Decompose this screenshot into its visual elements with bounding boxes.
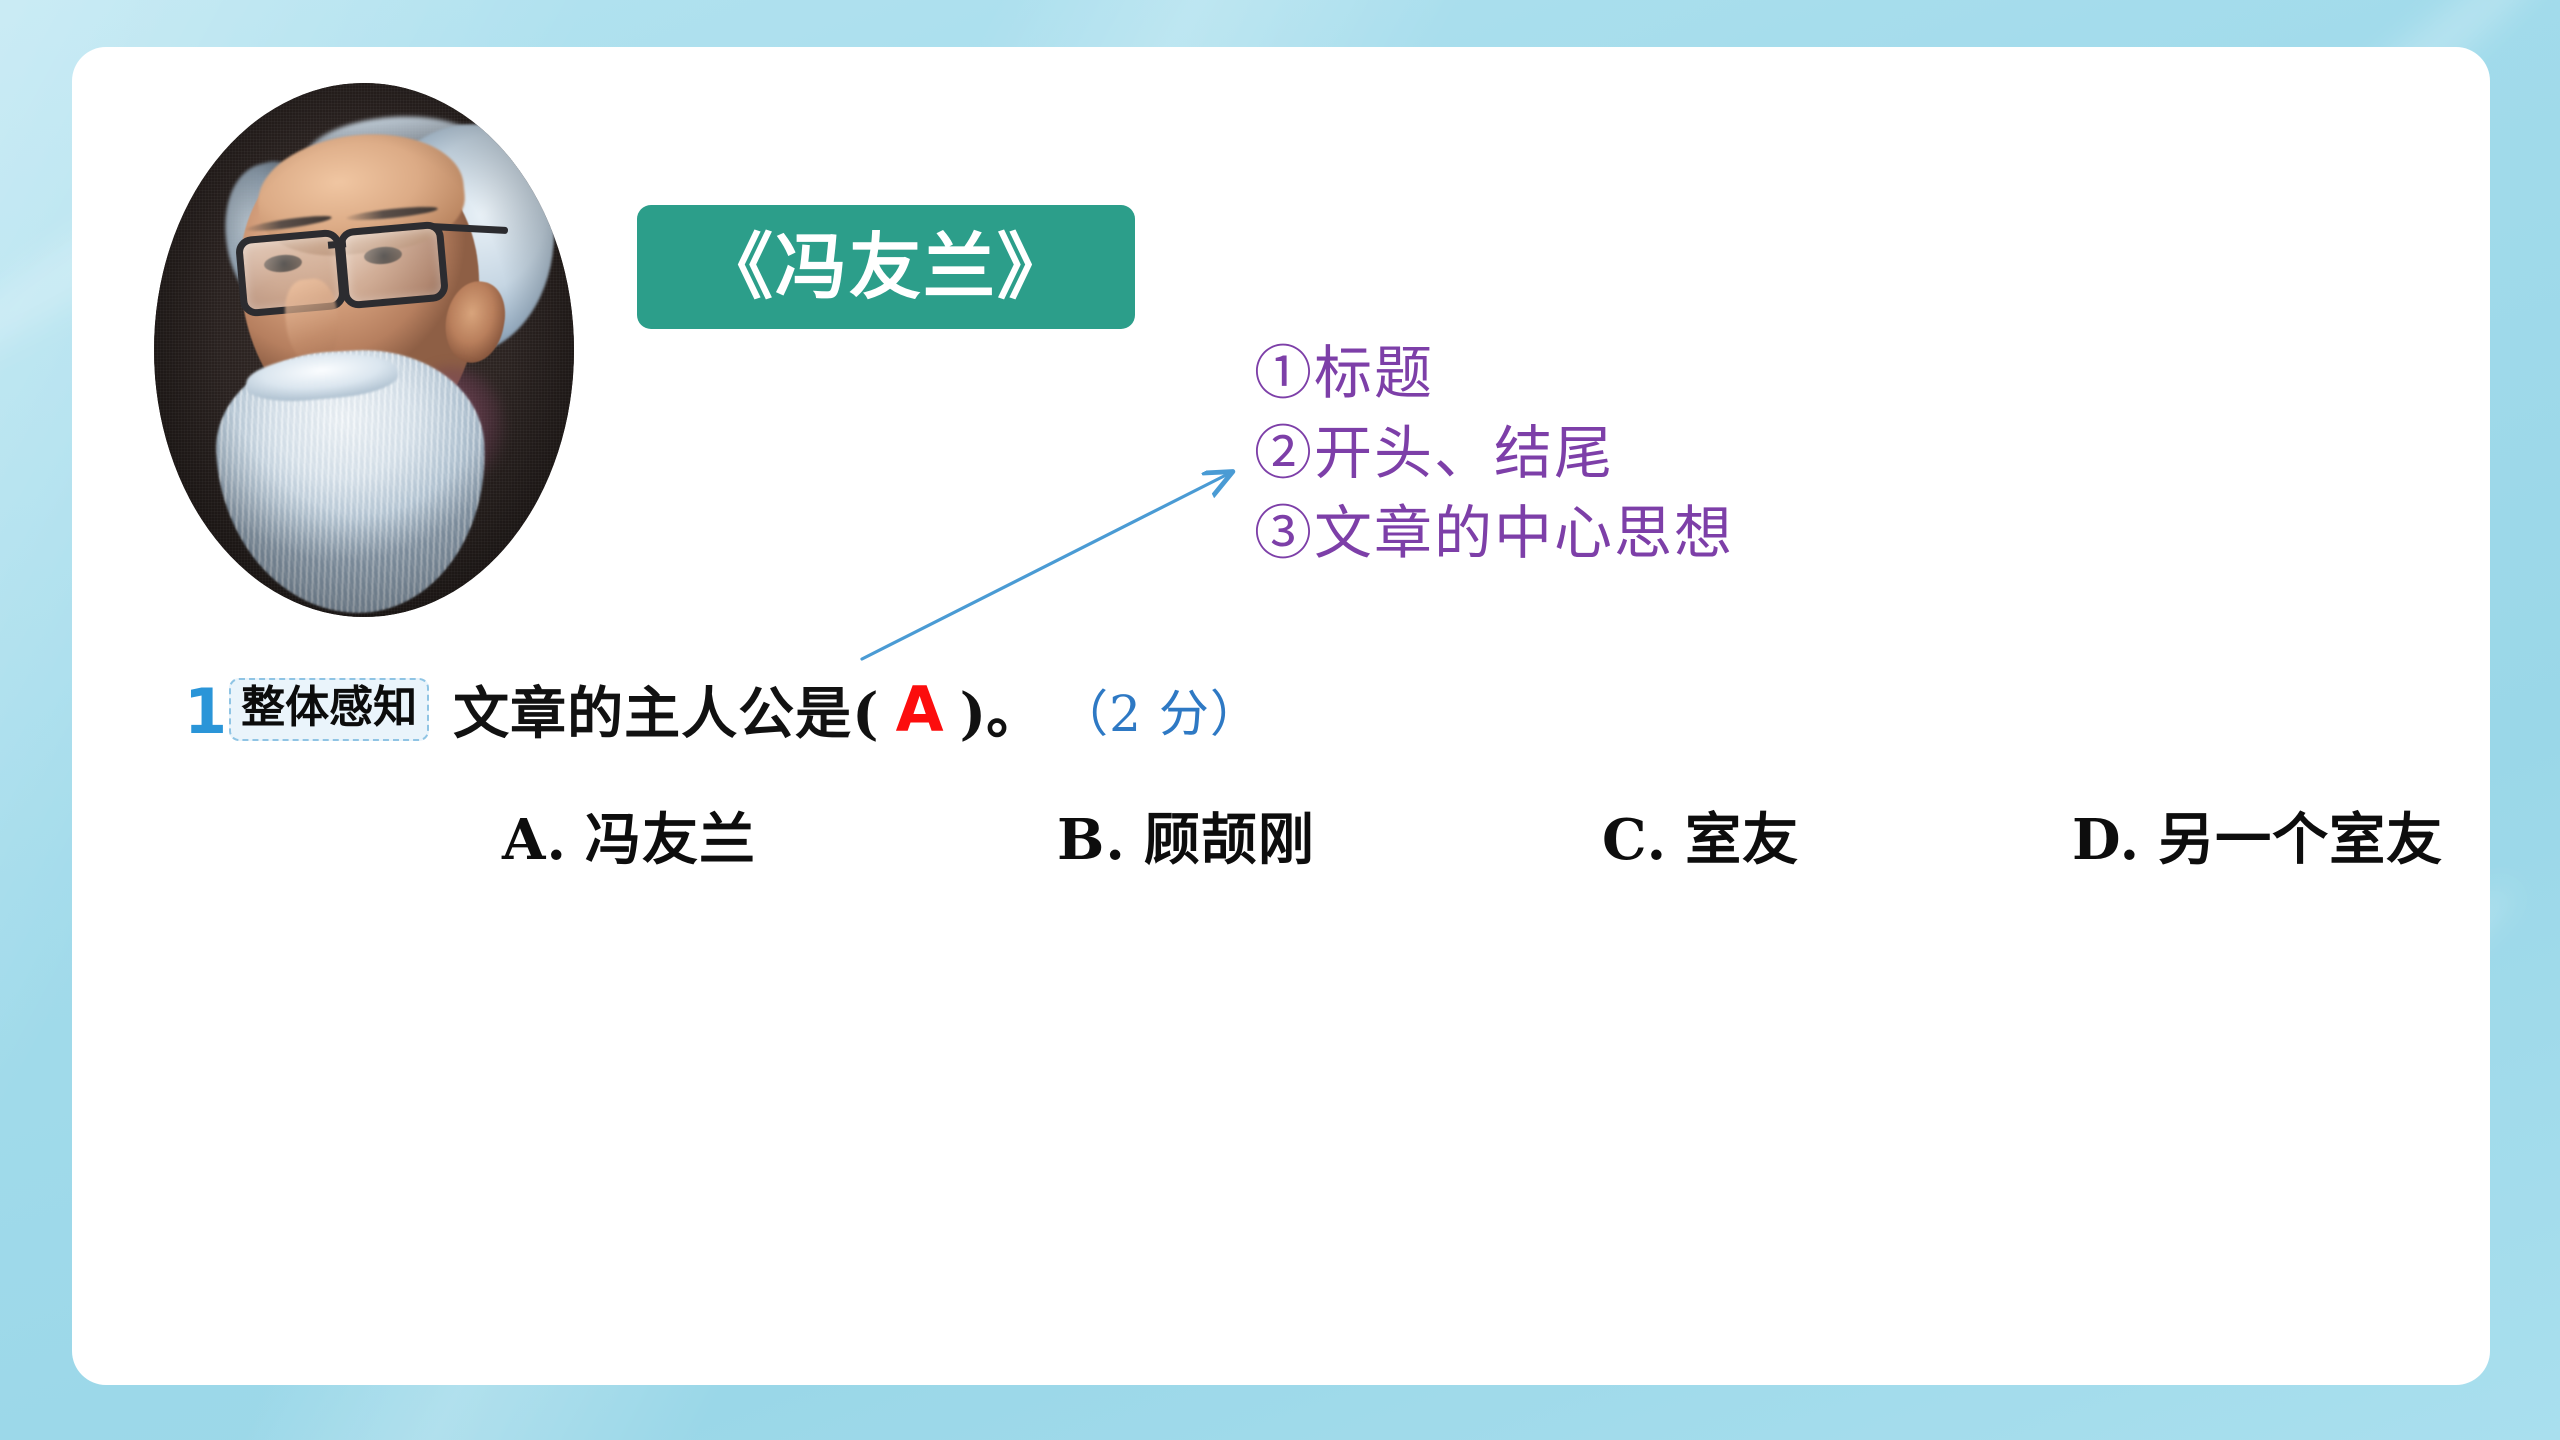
question-tag-badge: 整体感知 [229,678,429,741]
option-c[interactable]: C.室友 [1602,795,1799,876]
annotation-line-3: ③文章的中心思想 [1254,493,1734,573]
question-number: 1 [184,681,227,743]
question-score: （2 分） [1058,674,1261,746]
option-a-text: 冯友兰 [585,807,756,873]
question-prompt-tail: )。 [960,669,1043,750]
option-b[interactable]: B.顾颉刚 [1057,795,1315,876]
title-badge: 《冯友兰》 [637,205,1135,329]
option-b-letter: B. [1057,807,1126,873]
option-c-letter: C. [1602,807,1667,873]
slide-root: 《冯友兰》 ①标题 ②开头、结尾 ③文章的中心思想 1 整体感知 文章的主人公是… [0,0,2560,1440]
option-d[interactable]: D.另一个室友 [2072,795,2443,876]
content-card: 《冯友兰》 ①标题 ②开头、结尾 ③文章的中心思想 1 整体感知 文章的主人公是… [72,47,2490,1385]
annotation-block: ①标题 ②开头、结尾 ③文章的中心思想 [1254,333,1734,573]
question-row: 1 整体感知 文章的主人公是( A )。 （2 分） [184,669,1261,750]
option-d-letter: D. [2072,807,2140,873]
question-prompt: 文章的主人公是( [453,669,880,750]
annotation-line-1: ①标题 [1254,333,1734,413]
title-text: 《冯友兰》 [701,231,1071,303]
option-c-text: 室友 [1685,807,1799,873]
portrait-vignette [154,83,574,617]
option-a-letter: A. [502,807,567,873]
option-b-text: 顾颉刚 [1144,807,1315,873]
question-answer: A [880,673,960,746]
option-a[interactable]: A.冯友兰 [502,795,756,876]
options-row: A.冯友兰 B.顾颉刚 C.室友 D.另一个室友 [502,795,2560,875]
annotation-line-2: ②开头、结尾 [1254,413,1734,493]
option-d-text: 另一个室友 [2158,807,2443,873]
portrait-image [154,83,574,617]
arrow-up-right-icon [832,447,1272,687]
